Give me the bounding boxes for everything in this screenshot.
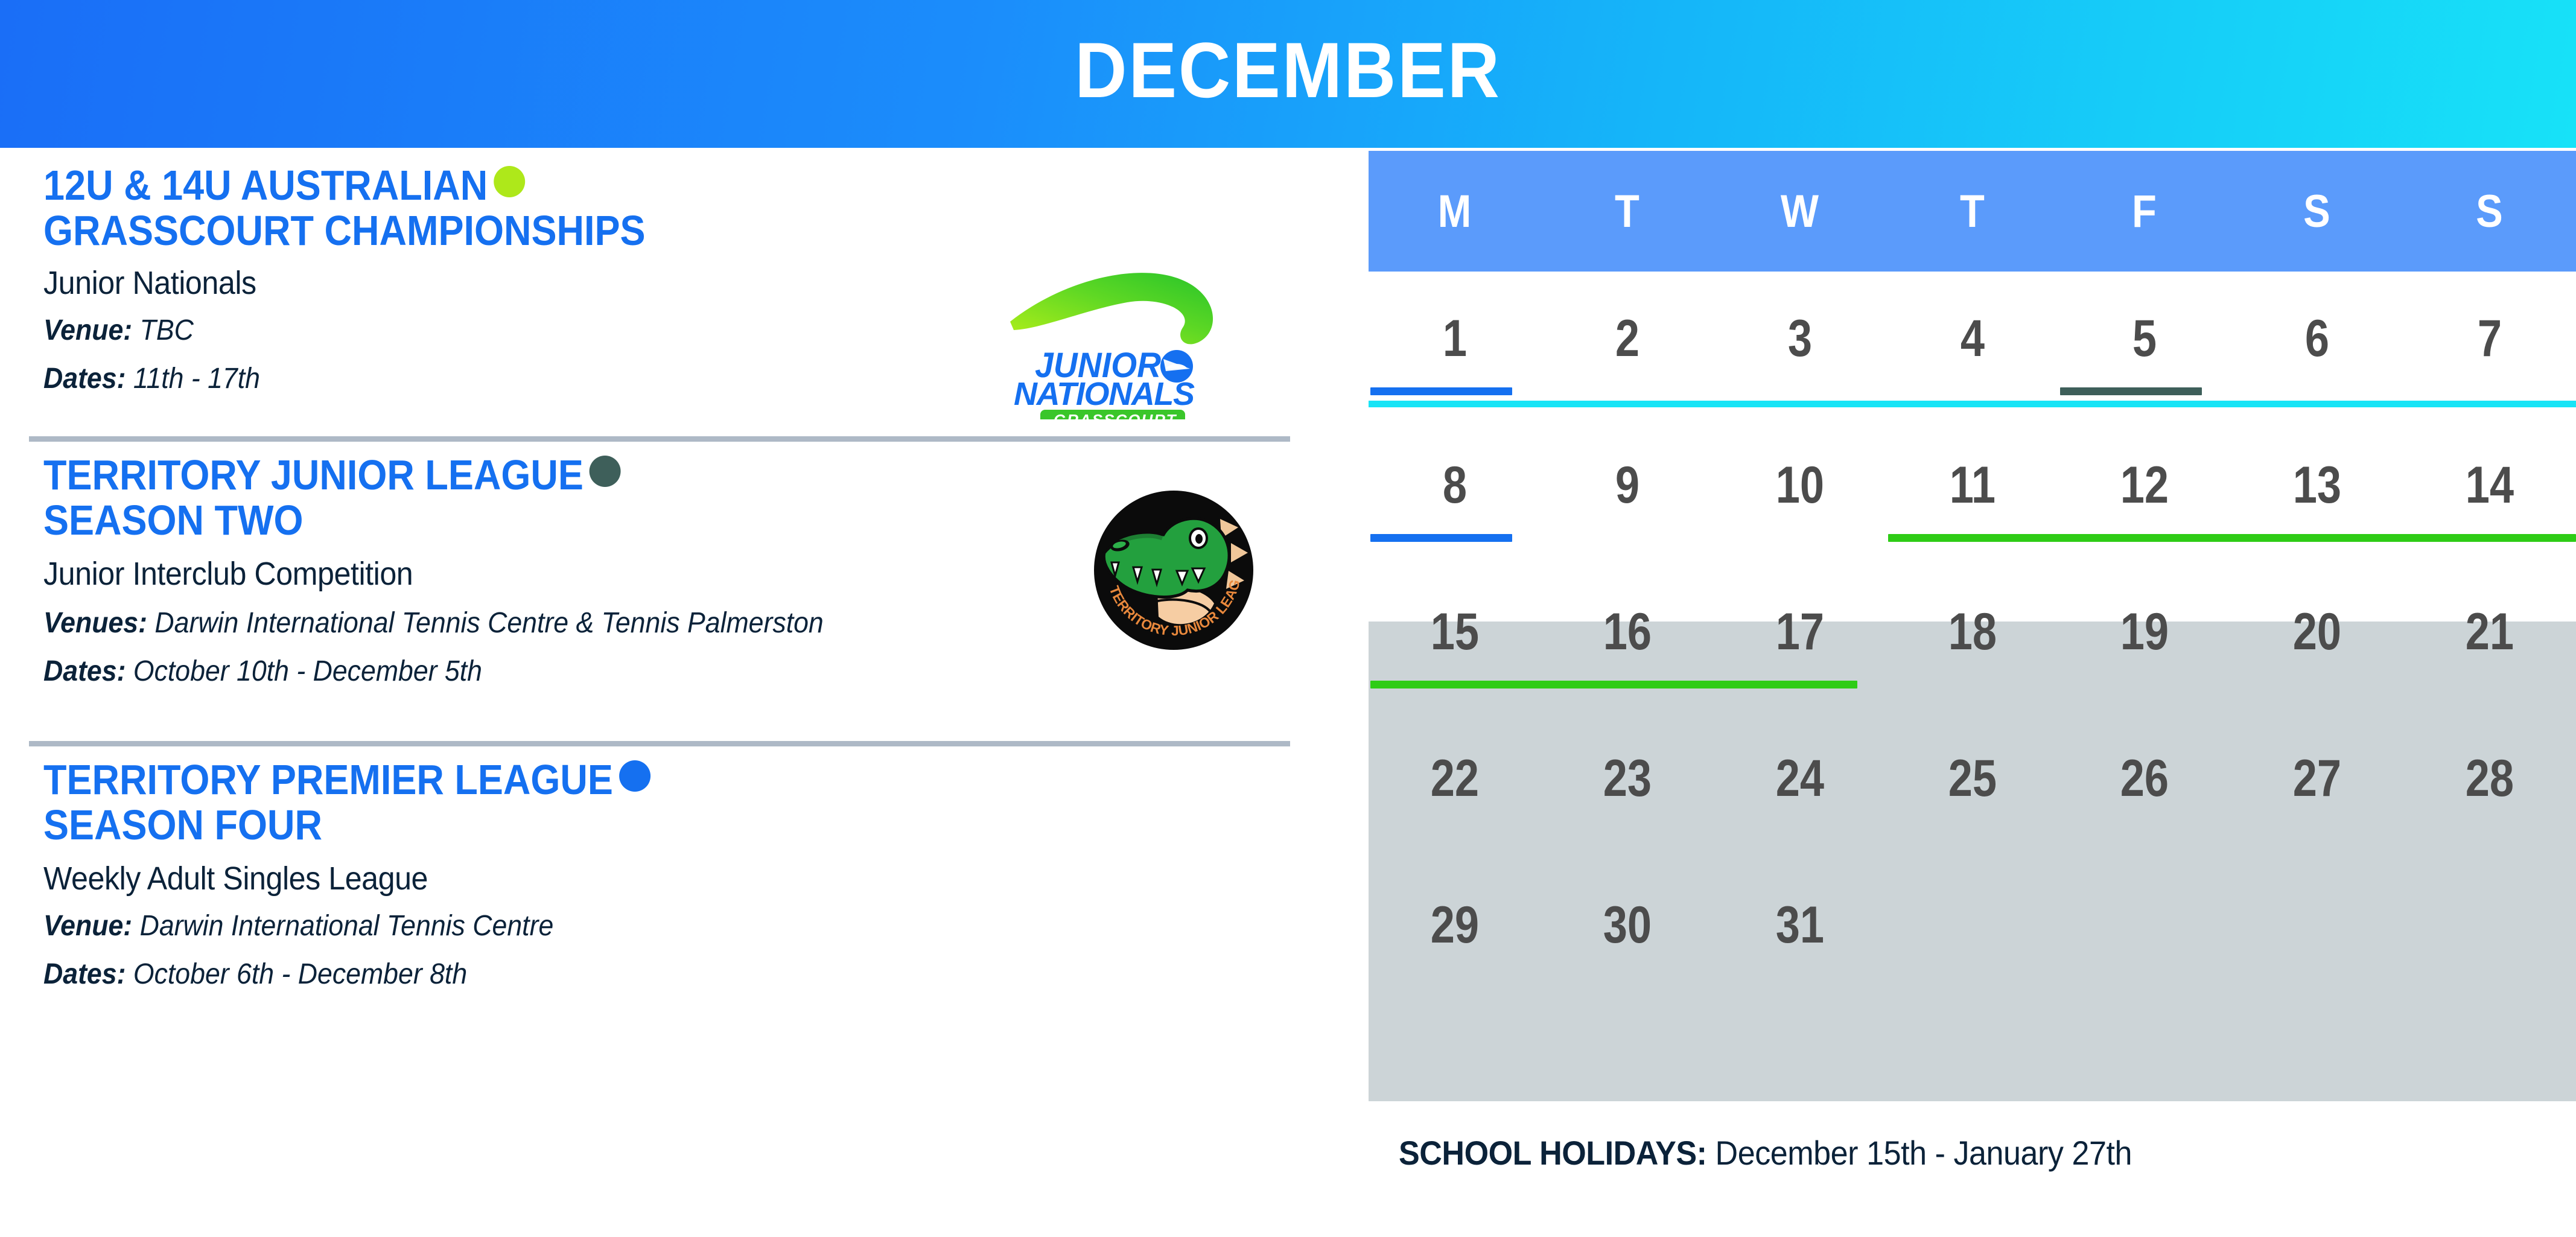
day-cell[interactable]: 2	[1555, 313, 1700, 378]
day-cell[interactable]: 20	[2245, 606, 2390, 671]
day-cell[interactable]: 21	[2417, 606, 2562, 671]
day-cell[interactable]: 27	[2245, 752, 2390, 818]
day-cell[interactable]: 1	[1382, 313, 1527, 378]
event-card-territory-junior-league[interactable]: TERRITORY JUNIOR LEAGUE SEASON TWO Junio…	[0, 453, 1358, 736]
section-divider	[29, 436, 1290, 442]
day-cell[interactable]: 23	[1555, 752, 1700, 818]
day-cell[interactable]: 5	[2072, 313, 2217, 378]
event-title: 12U & 14U AUSTRALIAN GRASSCOURT CHAMPION…	[43, 163, 891, 253]
school-holidays-label: SCHOOL HOLIDAYS:	[1399, 1134, 1707, 1172]
week-days: 293031	[1369, 858, 2576, 1005]
day-of-week-1: T	[1551, 185, 1703, 238]
calendar-week-row: 293031	[1369, 858, 2576, 1005]
calendar-week-row: 22232425262728	[1369, 711, 2576, 858]
day-cell[interactable]: 6	[2245, 313, 2390, 378]
event-bar	[1370, 387, 1512, 395]
junior-nationals-grasscourt-logo: JUNIOR NATIONALS GRASSCOURT	[1002, 262, 1255, 419]
day-cell[interactable]: 10	[1728, 459, 1872, 524]
event-card-territory-premier-league[interactable]: TERRITORY PREMIER LEAGUE SEASON FOUR Wee…	[0, 757, 1358, 1041]
event-subtitle: Junior Interclub Competition	[43, 555, 413, 593]
day-of-week-2: W	[1724, 185, 1876, 238]
day-cell-empty	[2072, 925, 2217, 938]
event-title-line1: TERRITORY JUNIOR LEAGUE	[43, 451, 584, 498]
day-cell[interactable]: 25	[1900, 752, 2044, 818]
calendar-week-row: 15161718192021	[1369, 565, 2576, 711]
event-title: TERRITORY JUNIOR LEAGUE SEASON TWO	[43, 453, 891, 543]
event-title: TERRITORY PREMIER LEAGUE SEASON FOUR	[43, 757, 891, 848]
day-cell[interactable]: 15	[1382, 606, 1527, 671]
page-title: DECEMBER	[103, 0, 2473, 148]
event-title-line2: SEASON TWO	[43, 497, 304, 544]
day-cell[interactable]: 4	[1900, 313, 2044, 378]
day-cell-empty	[1900, 925, 2044, 938]
calendar-week-rows: 1234567891011121314151617181920212223242…	[1369, 272, 2576, 1005]
events-panel: 12U & 14U AUSTRALIAN GRASSCOURT CHAMPION…	[0, 148, 1358, 1237]
week-divider-line	[1369, 401, 2576, 407]
week-days: 1234567	[1369, 272, 2576, 418]
day-cell[interactable]: 8	[1382, 459, 1527, 524]
event-bar	[1888, 534, 2576, 542]
day-cell-empty	[2417, 925, 2562, 938]
event-dates: Dates: 11th - 17th	[43, 362, 260, 395]
event-dates-value: October 10th - December 5th	[133, 655, 482, 687]
event-title-line2: GRASSCOURT CHAMPIONSHIPS	[43, 207, 646, 254]
event-subtitle: Weekly Adult Singles League	[43, 860, 428, 897]
event-title-line2: SEASON FOUR	[43, 801, 322, 848]
event-dates-label: Dates:	[43, 363, 126, 395]
day-of-week-4: F	[2069, 185, 2221, 238]
day-cell-empty	[2245, 925, 2390, 938]
event-venue: Venues: Darwin International Tennis Cent…	[43, 606, 824, 640]
day-of-week-6: S	[2414, 185, 2566, 238]
day-cell[interactable]: 24	[1728, 752, 1872, 818]
school-holidays-value: December 15th - January 27th	[1707, 1134, 2132, 1172]
day-cell[interactable]: 16	[1555, 606, 1700, 671]
event-venue-value: Darwin International Tennis Centre & Ten…	[154, 607, 823, 639]
day-cell[interactable]: 7	[2417, 313, 2562, 378]
event-dates-value: 11th - 17th	[133, 363, 260, 395]
logo-line2: NATIONALS	[1014, 376, 1195, 412]
day-of-week-5: S	[2241, 185, 2393, 238]
event-color-dot	[590, 456, 621, 487]
event-bar	[1370, 681, 1857, 688]
event-venue-label: Venue:	[43, 910, 132, 942]
event-venue: Venue: Darwin International Tennis Centr…	[43, 909, 553, 943]
day-cell[interactable]: 18	[1900, 606, 2044, 671]
calendar-page: DECEMBER 12U & 14U AUSTRALIAN GRASSCOURT…	[0, 0, 2576, 1237]
week-days: 15161718192021	[1369, 565, 2576, 711]
event-dates: Dates: October 10th - December 5th	[43, 655, 482, 688]
day-cell[interactable]: 28	[2417, 752, 2562, 818]
event-color-dot	[619, 760, 650, 792]
school-holidays-note: SCHOOL HOLIDAYS: December 15th - January…	[1399, 1133, 2132, 1172]
day-cell[interactable]: 19	[2072, 606, 2217, 671]
event-title-line1: TERRITORY PREMIER LEAGUE	[43, 756, 613, 803]
event-dates: Dates: October 6th - December 8th	[43, 958, 467, 991]
day-cell[interactable]: 13	[2245, 459, 2390, 524]
day-cell[interactable]: 29	[1382, 899, 1527, 964]
event-dates-label: Dates:	[43, 958, 126, 990]
event-dates-value: October 6th - December 8th	[133, 958, 467, 990]
week-days: 22232425262728	[1369, 711, 2576, 858]
logo-banner: GRASSCOURT	[1054, 411, 1177, 419]
event-bar	[1370, 534, 1512, 542]
day-cell[interactable]: 9	[1555, 459, 1700, 524]
day-of-week-header: MTWTFSS	[1369, 151, 2576, 272]
event-subtitle: Junior Nationals	[43, 264, 256, 302]
calendar-grid: MTWTFSS 12345678910111213141516171819202…	[1358, 148, 2576, 1237]
event-bar	[2060, 387, 2202, 395]
week-days: 891011121314	[1369, 418, 2576, 565]
day-cell[interactable]: 14	[2417, 459, 2562, 524]
event-dates-label: Dates:	[43, 655, 126, 687]
day-of-week-0: M	[1379, 185, 1531, 238]
day-cell[interactable]: 30	[1555, 899, 1700, 964]
day-cell[interactable]: 22	[1382, 752, 1527, 818]
calendar-week-row: 891011121314	[1369, 418, 2576, 565]
day-of-week-3: T	[1897, 185, 2049, 238]
calendar-week-row: 1234567	[1369, 272, 2576, 418]
day-cell[interactable]: 3	[1728, 313, 1872, 378]
day-cell[interactable]: 12	[2072, 459, 2217, 524]
day-cell[interactable]: 26	[2072, 752, 2217, 818]
event-card-junior-nationals[interactable]: 12U & 14U AUSTRALIAN GRASSCOURT CHAMPION…	[0, 163, 1358, 431]
event-venue-value: Darwin International Tennis Centre	[140, 910, 554, 942]
event-venue-label: Venue:	[43, 314, 132, 346]
event-color-dot	[494, 166, 525, 197]
event-venue: Venue: TBC	[43, 314, 194, 347]
day-cell[interactable]: 17	[1728, 606, 1872, 671]
event-title-line1: 12U & 14U AUSTRALIAN	[43, 162, 488, 209]
event-venue-label: Venues:	[43, 607, 147, 639]
event-venue-value: TBC	[140, 314, 194, 346]
day-cell[interactable]: 11	[1900, 459, 2044, 524]
day-cell[interactable]: 31	[1728, 899, 1872, 964]
territory-junior-league-crocodile-logo: TERRITORY JUNIOR LEAGUE	[1086, 483, 1261, 658]
section-divider	[29, 741, 1290, 746]
